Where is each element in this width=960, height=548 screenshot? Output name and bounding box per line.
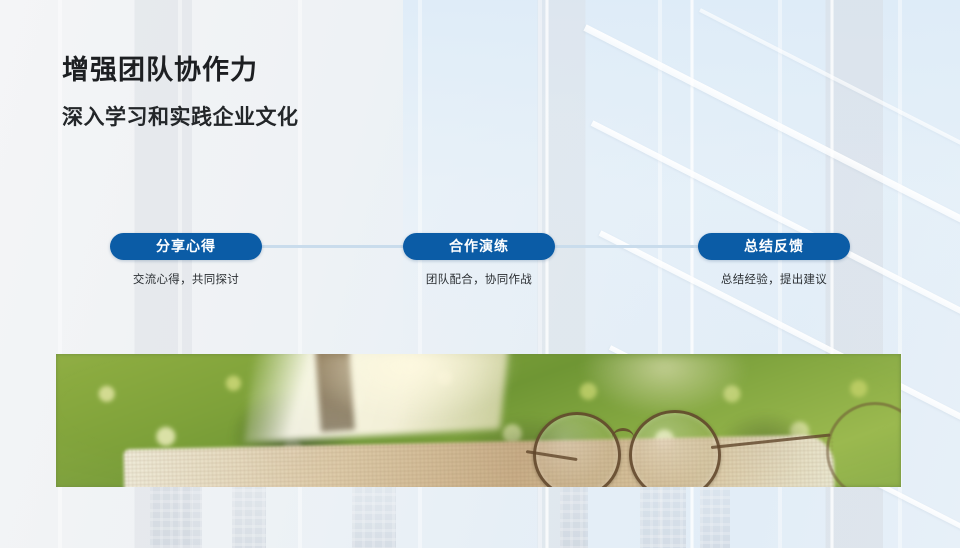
timeline-connector-1 bbox=[255, 245, 410, 248]
timeline-connector-2 bbox=[548, 245, 705, 248]
skyline-building-6 bbox=[700, 478, 730, 548]
page-subtitle: 深入学习和实践企业文化 bbox=[62, 101, 299, 131]
page-title: 增强团队协作力 bbox=[62, 48, 258, 87]
banner-soft-focus-overlay bbox=[56, 354, 901, 487]
process-step-1-label[interactable]: 分享心得 bbox=[110, 233, 262, 260]
process-step-1-description: 交流心得，共同探讨 bbox=[110, 271, 262, 287]
skyline-building-3 bbox=[352, 484, 396, 548]
process-step-2-label[interactable]: 合作演练 bbox=[403, 233, 555, 260]
process-timeline: 分享心得 交流心得，共同探讨 合作演练 团队配合，协同作战 总结反馈 总结经验，… bbox=[0, 233, 960, 303]
process-step-3[interactable]: 总结反馈 总结经验，提出建议 bbox=[698, 233, 850, 287]
process-step-2[interactable]: 合作演练 团队配合，协同作战 bbox=[403, 233, 555, 287]
process-step-3-label[interactable]: 总结反馈 bbox=[698, 233, 850, 260]
process-step-1[interactable]: 分享心得 交流心得，共同探讨 bbox=[110, 233, 262, 287]
process-step-3-description: 总结经验，提出建议 bbox=[698, 271, 850, 287]
slide: 增强团队协作力 深入学习和实践企业文化 分享心得 交流心得，共同探讨 合作演练 … bbox=[0, 0, 960, 548]
banner-image bbox=[56, 354, 901, 487]
process-step-2-description: 团队配合，协同作战 bbox=[403, 271, 555, 287]
